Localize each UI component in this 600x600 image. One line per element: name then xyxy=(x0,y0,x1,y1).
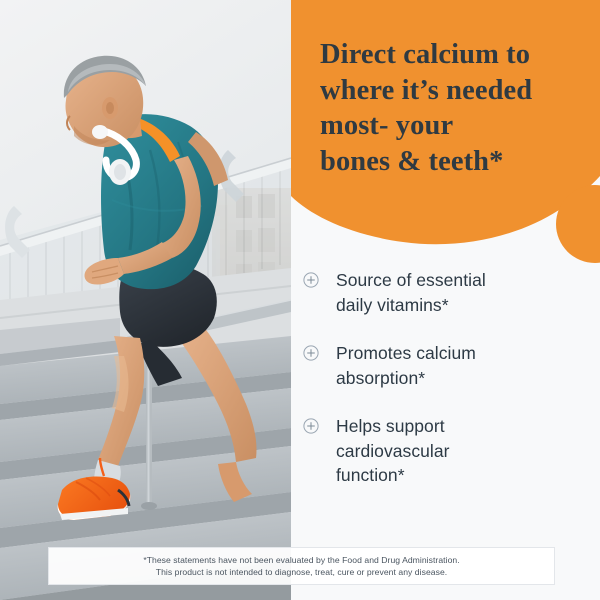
benefit-text: Promotes calcium absorption* xyxy=(336,341,476,390)
list-item: Promotes calcium absorption* xyxy=(303,341,593,390)
benefit-line-1: Helps support xyxy=(336,416,445,436)
benefit-line-1: Source of essential xyxy=(336,270,486,290)
benefit-line-2: absorption* xyxy=(336,368,425,388)
plus-circle-icon xyxy=(303,345,319,361)
benefit-line-3: function* xyxy=(336,465,405,485)
plus-circle-icon xyxy=(303,418,319,434)
disclaimer-box: *These statements have not been evaluate… xyxy=(48,547,555,585)
benefit-line-2: daily vitamins* xyxy=(336,295,449,315)
advertisement-card: Direct calcium to where it’s needed most… xyxy=(0,0,600,600)
benefit-line-2: cardiovascular xyxy=(336,441,450,461)
disclaimer-line-2: This product is not intended to diagnose… xyxy=(156,566,447,578)
headline-line-3: most- your xyxy=(320,110,453,141)
content-panel: Direct calcium to where it’s needed most… xyxy=(291,0,600,600)
plus-circle-icon xyxy=(303,272,319,288)
headline-line-1: Direct calcium to xyxy=(320,39,530,70)
headline-line-4: bones & teeth* xyxy=(320,146,503,177)
benefit-text: Source of essential daily vitamins* xyxy=(336,268,486,317)
benefits-list: Source of essential daily vitamins* Prom… xyxy=(303,268,593,488)
list-item: Helps support cardiovascular function* xyxy=(303,414,593,488)
benefit-line-1: Promotes calcium xyxy=(336,343,476,363)
page-title: Direct calcium to where it’s needed most… xyxy=(320,37,586,179)
hero-photo xyxy=(0,0,291,600)
list-item: Source of essential daily vitamins* xyxy=(303,268,593,317)
benefit-text: Helps support cardiovascular function* xyxy=(336,414,450,488)
disclaimer-line-1: *These statements have not been evaluate… xyxy=(143,554,459,566)
headline-line-2: where it’s needed xyxy=(320,75,532,106)
